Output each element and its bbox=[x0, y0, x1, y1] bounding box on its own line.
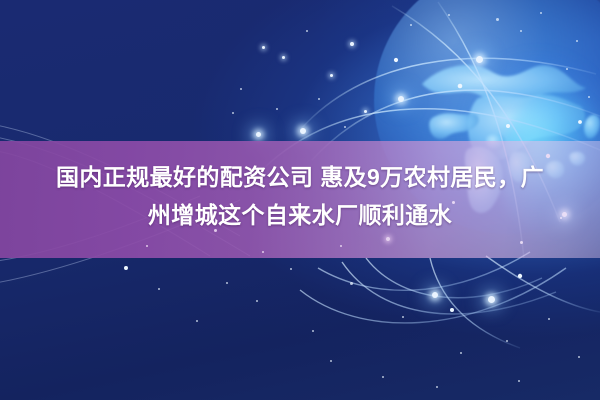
particle bbox=[410, 24, 412, 26]
particle bbox=[578, 356, 580, 358]
particle bbox=[312, 330, 314, 332]
particle bbox=[506, 340, 508, 342]
particle-glow bbox=[256, 132, 261, 137]
particle bbox=[382, 376, 384, 378]
particle-glow bbox=[398, 96, 404, 102]
particle bbox=[566, 68, 568, 70]
particle-glow bbox=[476, 56, 483, 63]
particle bbox=[350, 42, 354, 46]
particle bbox=[318, 98, 320, 100]
particle bbox=[548, 318, 550, 320]
band-particle bbox=[146, 245, 148, 247]
particle bbox=[226, 282, 228, 284]
particle bbox=[496, 18, 499, 21]
particle bbox=[520, 30, 522, 32]
particle bbox=[402, 316, 404, 318]
particle bbox=[576, 40, 578, 42]
particle bbox=[240, 88, 242, 90]
particle-glow bbox=[432, 292, 438, 298]
headline-line-1: 国内正规最好的配资公司 惠及9万农村居民，广 bbox=[0, 158, 600, 196]
particle bbox=[282, 56, 285, 59]
particle-glow bbox=[488, 296, 495, 303]
particle bbox=[460, 352, 462, 354]
band-particle bbox=[386, 237, 390, 241]
band-particle bbox=[340, 245, 342, 247]
particle bbox=[306, 30, 308, 32]
particle bbox=[276, 108, 278, 110]
particle bbox=[330, 360, 332, 362]
band-particle bbox=[520, 241, 523, 244]
particle bbox=[330, 74, 333, 77]
particle bbox=[232, 112, 234, 114]
particle bbox=[290, 268, 292, 270]
particle bbox=[158, 288, 160, 290]
band-particle bbox=[262, 251, 264, 253]
particle bbox=[344, 126, 346, 128]
headline-line-2: 州增城这个自来水厂顺利通水 bbox=[0, 196, 600, 234]
particle bbox=[350, 282, 353, 285]
headline: 国内正规最好的配资公司 惠及9万农村居民，广 州增城这个自来水厂顺利通水 bbox=[0, 158, 600, 234]
particle bbox=[448, 14, 450, 16]
particle bbox=[196, 320, 198, 322]
particle bbox=[518, 380, 520, 382]
particle bbox=[436, 386, 438, 388]
particle bbox=[364, 110, 367, 113]
particle bbox=[588, 96, 590, 98]
particle bbox=[262, 46, 265, 49]
banner-image: 国内正规最好的配资公司 惠及9万农村居民，广 州增城这个自来水厂顺利通水 bbox=[0, 0, 600, 400]
particle-glow bbox=[300, 128, 306, 134]
particle bbox=[540, 12, 542, 14]
particle bbox=[256, 300, 258, 302]
